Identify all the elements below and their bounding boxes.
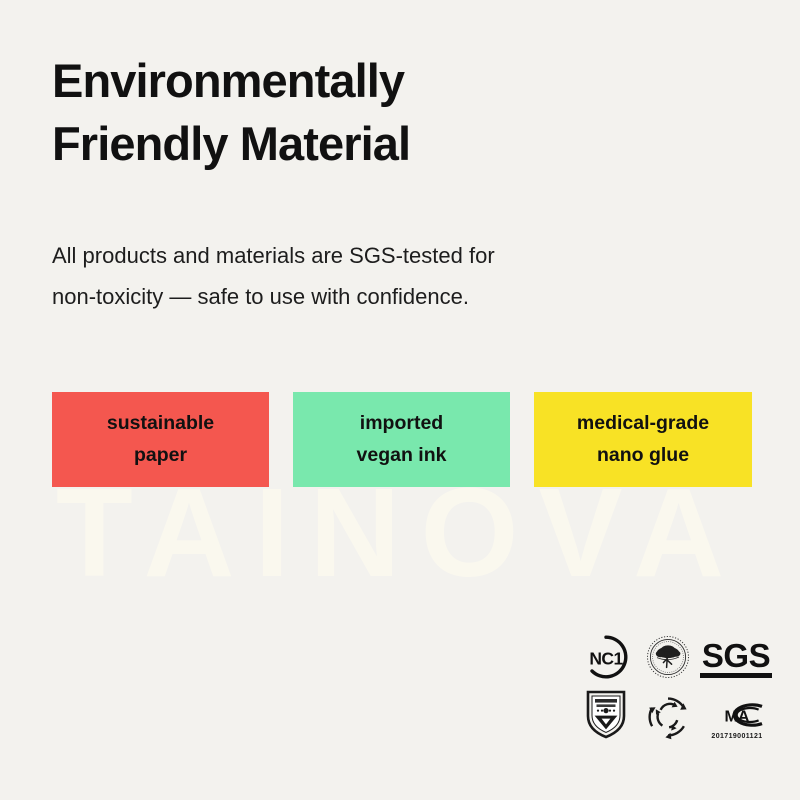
tree-seal-icon (645, 634, 691, 680)
sgs-wordmark: SGS (702, 640, 770, 671)
certification-badge-row-1: NC1 SG (575, 624, 775, 680)
cma-certificate-number: 201719001121 (711, 733, 762, 740)
page-title-line-2: Friendly Material (52, 113, 692, 176)
cma-certification-badge: MA 201719001121 (699, 700, 775, 740)
material-tag-label-line-1: sustainable (107, 408, 214, 440)
shield-icon (584, 688, 628, 740)
recycling-loop-icon (645, 694, 691, 740)
forest-stewardship-certification-badge (637, 634, 699, 680)
sgs-underline (700, 673, 772, 678)
svg-text:MA: MA (725, 708, 750, 725)
material-tag-sustainable-paper: sustainable paper (52, 392, 269, 487)
page-description-line-2: non-toxicity — safe to use with confiden… (52, 277, 672, 318)
sgs-certification-badge: SGS (699, 640, 773, 680)
material-tag-medical-grade-nano-glue: medical-grade nano glue (534, 392, 752, 487)
nc1-circle-icon: NC1 (583, 634, 629, 680)
svg-text:NC1: NC1 (589, 649, 623, 669)
material-tag-label-line-2: nano glue (597, 440, 689, 472)
page-title-line-1: Environmentally (52, 50, 692, 113)
material-tag-list: sustainable paper imported vegan ink med… (52, 392, 752, 487)
certification-badge-row-2: MA 201719001121 (575, 684, 775, 740)
poster-page: Environmentally Friendly Material All pr… (0, 0, 800, 800)
material-tag-imported-vegan-ink: imported vegan ink (293, 392, 510, 487)
material-tag-label-line-2: vegan ink (357, 440, 447, 472)
page-description-line-1: All products and materials are SGS-teste… (52, 236, 672, 277)
material-tag-label-line-2: paper (134, 440, 187, 472)
cma-oval-icon: MA (704, 700, 770, 730)
material-tag-label-line-1: medical-grade (577, 408, 709, 440)
page-title: Environmentally Friendly Material (52, 50, 692, 176)
nc1-certification-badge: NC1 (575, 634, 637, 680)
material-tag-label-line-1: imported (360, 408, 443, 440)
certification-badge-group: NC1 SG (575, 624, 775, 740)
page-description: All products and materials are SGS-teste… (52, 236, 672, 318)
recycling-certification-badge (637, 694, 699, 740)
shield-certification-badge (575, 688, 637, 740)
